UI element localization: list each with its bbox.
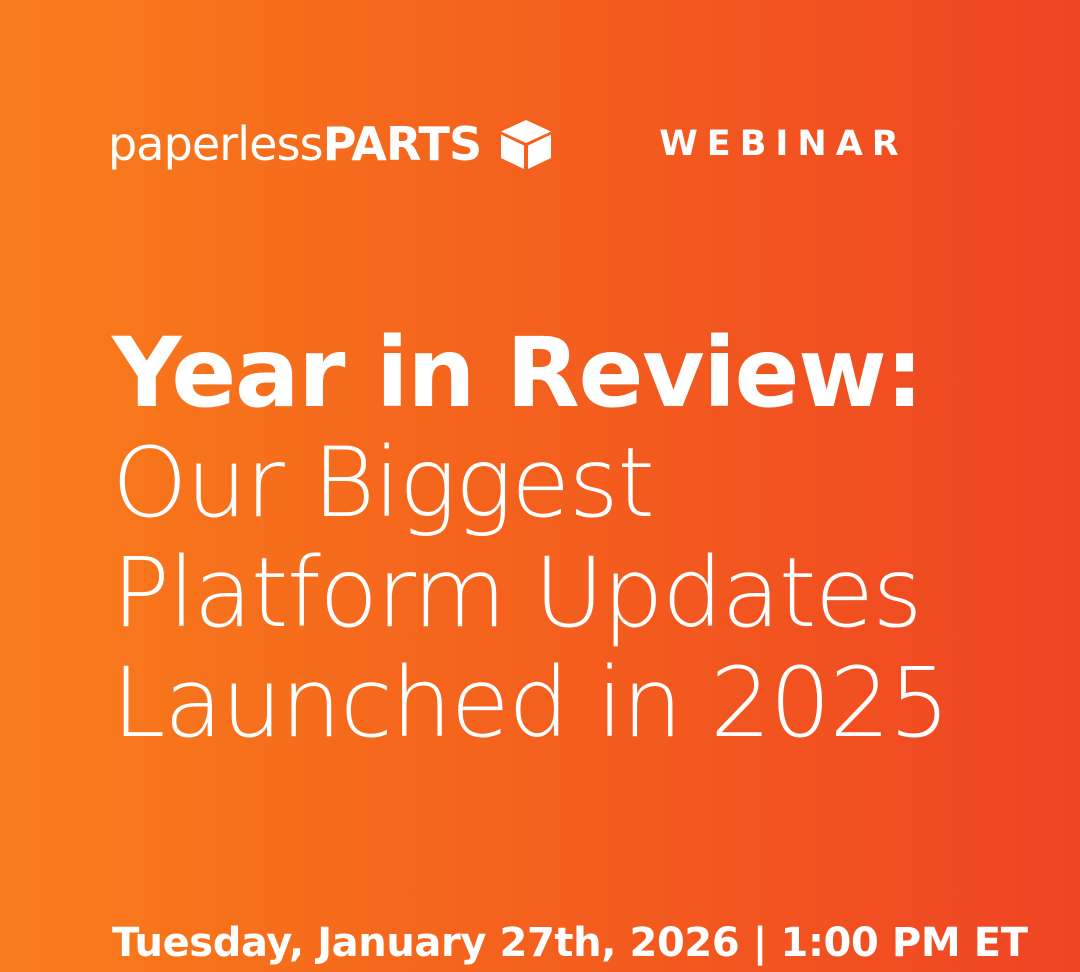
headline-line-2: Our Biggest xyxy=(112,428,1012,538)
header-row: paperlessPARTS WEBINAR xyxy=(108,108,908,180)
paperless-parts-logo: paperlessPARTS xyxy=(108,116,553,172)
brand-wordmark: paperlessPARTS xyxy=(108,121,481,167)
headline-line-3: Platform Updates xyxy=(112,538,1012,648)
cube-icon xyxy=(499,118,553,172)
webinar-eyebrow-label: WEBINAR xyxy=(659,127,908,162)
brand-name-light: paperless xyxy=(108,117,323,171)
page-title: Year in Review: Our Biggest Platform Upd… xyxy=(112,318,1012,758)
event-date-time: Tuesday, January 27th, 2026 | 1:00 PM ET xyxy=(112,919,1028,967)
headline-line-4: Launched in 2025 xyxy=(112,648,1012,758)
brand-name-bold: PARTS xyxy=(323,117,481,171)
headline-line-1: Year in Review: xyxy=(112,318,1012,428)
webinar-promo-graphic: paperlessPARTS WEBINAR Year in Review: O… xyxy=(0,0,1080,972)
